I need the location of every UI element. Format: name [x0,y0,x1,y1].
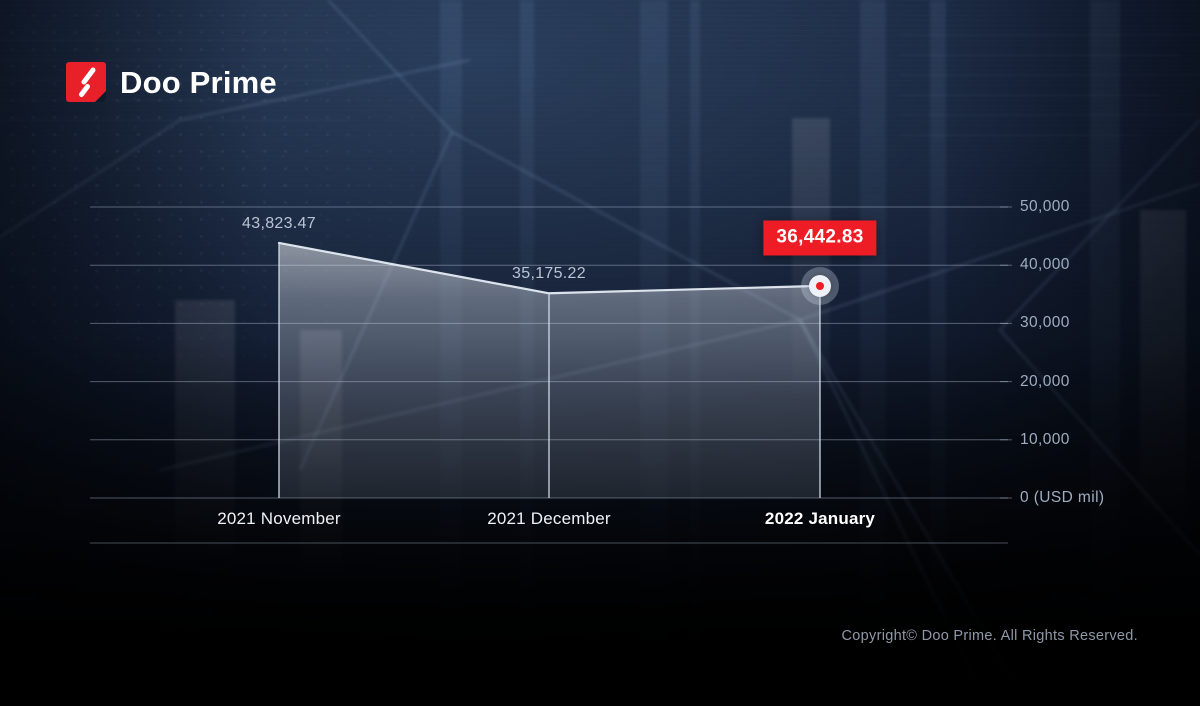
chart-poster: Doo Prime 50,00040,00030,00020,00010,000… [0,0,1200,706]
x-axis-tick-label: 2021 November [217,509,341,529]
brand-name: Doo Prime [120,67,277,98]
y-axis-tick-label: 30,000 [1020,314,1070,332]
y-axis-tick-label: 10,000 [1020,431,1070,449]
x-axis-tick-label: 2021 December [487,509,611,529]
marker-inner-ring [809,275,831,297]
data-point-label: 43,823.47 [242,215,316,233]
x-axis-tick-label: 2022 January [765,509,875,529]
y-axis-tick-label: 0 (USD mil) [1020,489,1104,507]
y-axis-tick-label: 50,000 [1020,198,1070,216]
data-point-label: 35,175.22 [512,265,586,283]
logo-slash-upper [80,67,96,86]
copyright-text: Copyright© Doo Prime. All Rights Reserve… [842,628,1138,644]
y-axis-tick-label: 20,000 [1020,373,1070,391]
brand-logo: Doo Prime [66,62,277,102]
highlight-point-marker [801,267,839,305]
marker-center-dot [816,282,824,290]
logo-corner-notch [94,90,106,102]
logo-slash-lower [77,83,90,98]
highlight-value-badge: 36,442.83 [763,220,876,255]
y-axis-tick-label: 40,000 [1020,256,1070,274]
doo-prime-logo-icon [66,62,106,102]
background-vignette [0,0,1200,706]
